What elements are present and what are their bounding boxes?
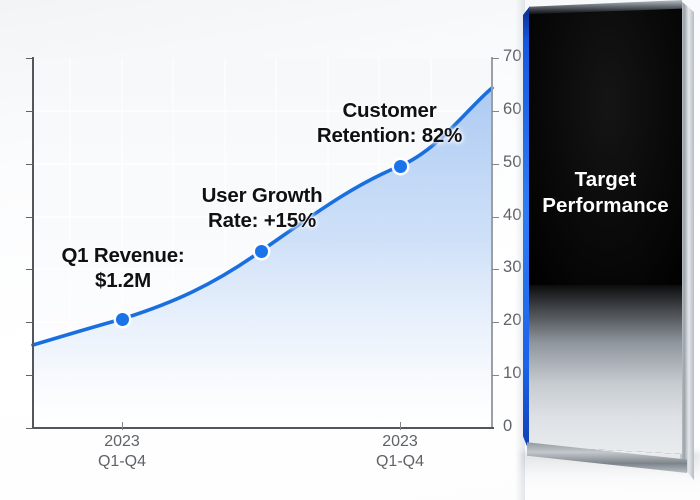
y-left-tick-0	[26, 428, 33, 429]
y-left-tick-15	[26, 269, 33, 270]
y-right-tick-30	[492, 269, 499, 270]
screenshot-root: 35 30 25 20 15 10 5 0 70 60 50 40 30 20 …	[0, 0, 700, 500]
y-axis-left-spine	[32, 57, 34, 429]
y-axis-right-spine	[491, 57, 493, 429]
data-point-user-growth[interactable]	[255, 245, 268, 258]
annotation-q1-revenue: Q1 Revenue: $1.2M	[38, 243, 208, 293]
y-right-tick-20	[492, 322, 499, 323]
y-left-tick-30	[26, 111, 33, 112]
data-point-customer-retention[interactable]	[394, 160, 407, 173]
annotation-customer-retention-line2: Retention: 82%	[297, 123, 482, 148]
panel-title-line2: Performance	[529, 193, 682, 219]
x-tick-label-1: 2023 Q1-Q4	[62, 432, 182, 473]
annotation-user-growth-line1: User Growth	[177, 183, 347, 208]
panel-screen[interactable]: Target Performance	[529, 4, 682, 454]
performance-area-chart: 35 30 25 20 15 10 5 0 70 60 50 40 30 20 …	[0, 0, 520, 500]
annotation-customer-retention-line1: Customer	[297, 98, 482, 123]
target-performance-panel: Target Performance	[515, 0, 700, 500]
panel-right-frame-edge	[680, 0, 694, 480]
data-point-q1-revenue[interactable]	[116, 313, 129, 326]
x-tick-label-2-quarter: Q1-Q4	[340, 452, 460, 472]
x-axis-spine	[32, 427, 494, 429]
y-right-tick-70	[492, 58, 499, 59]
x-tick-mark-2	[400, 422, 401, 430]
y-left-tick-35	[26, 58, 33, 59]
annotation-user-growth: User Growth Rate: +15%	[177, 183, 347, 233]
annotation-customer-retention: Customer Retention: 82%	[297, 98, 482, 148]
y-right-tick-60	[492, 111, 499, 112]
y-right-tick-40	[492, 217, 499, 218]
y-left-tick-20	[26, 217, 33, 218]
x-tick-label-1-year: 2023	[62, 432, 182, 452]
panel-title-line1: Target	[529, 167, 682, 193]
x-tick-label-2-year: 2023	[340, 432, 460, 452]
panel-blue-edge-strip	[523, 6, 530, 454]
panel-screen-surface	[529, 4, 682, 288]
x-tick-label-2: 2023 Q1-Q4	[340, 432, 460, 473]
y-right-tick-50	[492, 164, 499, 165]
y-left-tick-10	[26, 322, 33, 323]
annotation-q1-revenue-line1: Q1 Revenue:	[38, 243, 208, 268]
y-right-tick-10	[492, 375, 499, 376]
y-left-tick-5	[26, 375, 33, 376]
x-tick-mark-1	[122, 422, 123, 430]
panel-screen-reflection	[529, 285, 682, 454]
panel-title: Target Performance	[529, 167, 682, 218]
x-tick-label-1-quarter: Q1-Q4	[62, 452, 182, 472]
annotation-q1-revenue-line2: $1.2M	[38, 268, 208, 293]
y-left-tick-25	[26, 164, 33, 165]
annotation-user-growth-line2: Rate: +15%	[177, 208, 347, 233]
